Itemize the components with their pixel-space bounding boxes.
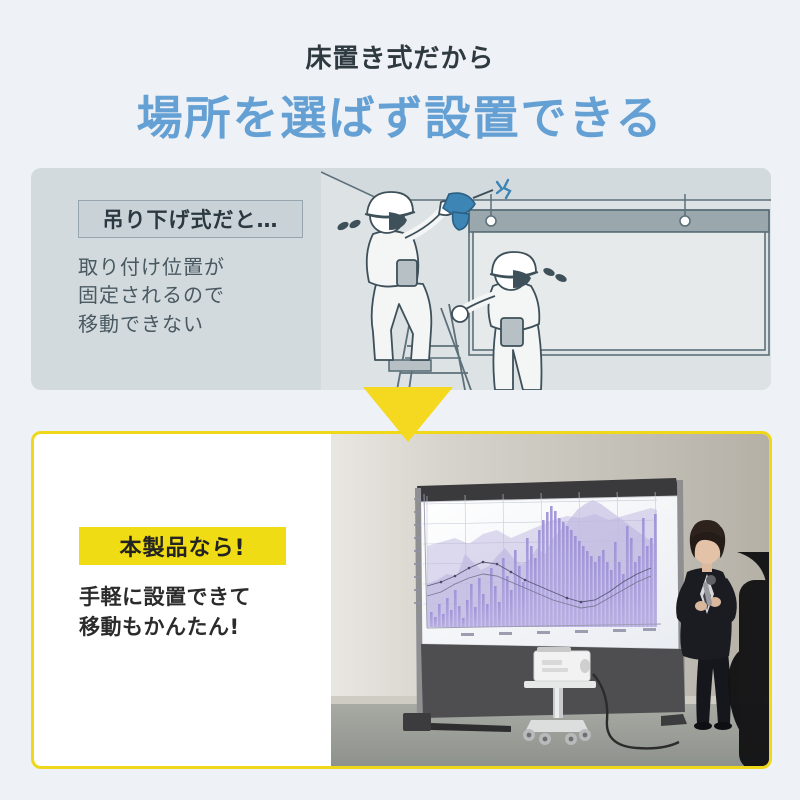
problem-description: 取り付け位置が 固定されるので 移動できない — [78, 253, 348, 338]
promo-page: 床置き式だから 場所を選ばず設置できる 吊り下げ式だと… 取り付け位置が 固定さ… — [0, 0, 800, 800]
down-arrow — [363, 387, 453, 442]
problem-tag: 吊り下げ式だと… — [78, 200, 303, 238]
problem-tag-label: 吊り下げ式だと… — [103, 204, 279, 234]
ceiling-mount-installation-illustration — [321, 168, 771, 390]
solution-panel: 本製品なら! 手軽に設置できて 移動もかんたん! — [31, 431, 772, 769]
floor-standing-screen-photo — [331, 434, 772, 767]
problem-panel: 吊り下げ式だと… 取り付け位置が 固定されるので 移動できない — [31, 168, 771, 390]
problem-panel-inner: 吊り下げ式だと… 取り付け位置が 固定されるので 移動できない — [31, 168, 771, 390]
solution-badge-label: 本製品なら! — [119, 530, 245, 562]
page-title: 場所を選ばず設置できる — [0, 82, 800, 148]
solution-badge: 本製品なら! — [79, 527, 286, 565]
projector — [534, 647, 590, 681]
page-subtitle: 床置き式だから — [0, 38, 800, 75]
solution-description: 手軽に設置できて 移動もかんたん! — [79, 582, 339, 643]
